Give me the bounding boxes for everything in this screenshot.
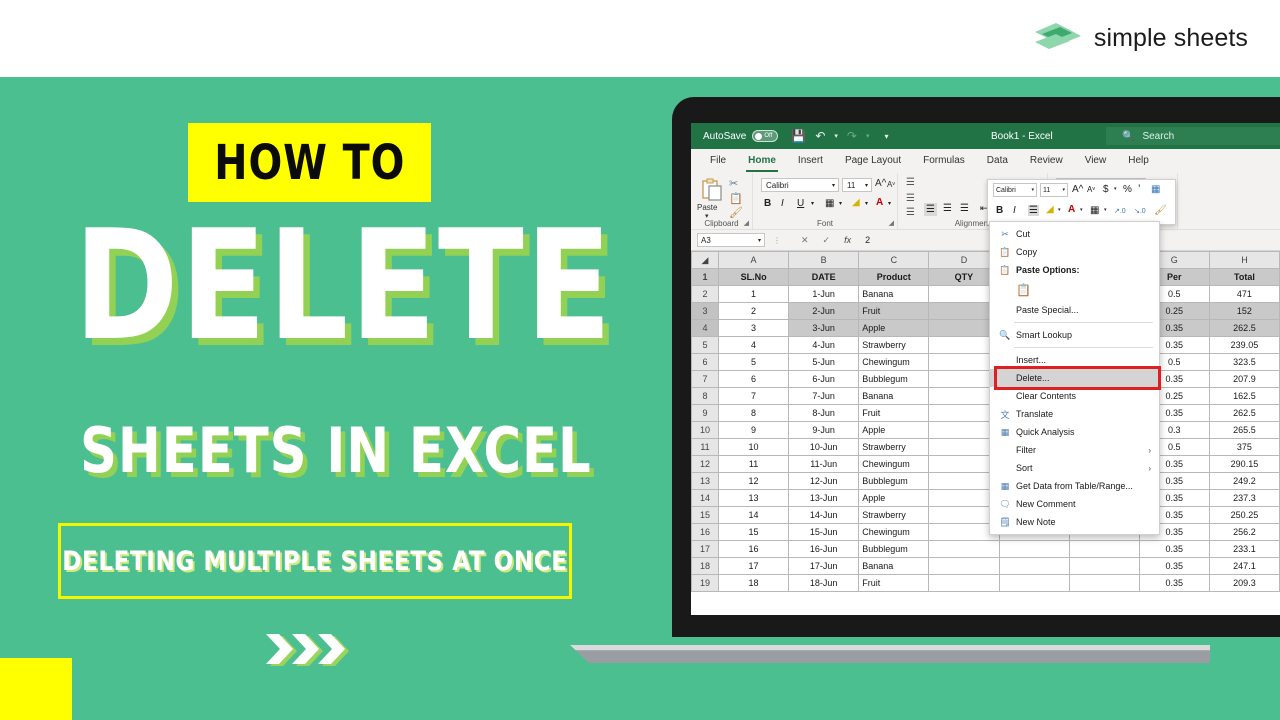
- tab-page-layout[interactable]: Page Layout: [834, 149, 912, 173]
- cell-total[interactable]: 250.25: [1209, 507, 1279, 524]
- cell-product[interactable]: Apple: [859, 490, 929, 507]
- font-color-dropdown-icon[interactable]: ▾: [1080, 207, 1083, 213]
- formula-bar-value[interactable]: 2: [865, 235, 870, 245]
- font-name-input[interactable]: Calibri ▾: [761, 178, 839, 192]
- align-center-icon[interactable]: ☰: [943, 203, 952, 214]
- search-box[interactable]: 🔍 Search: [1106, 127, 1280, 145]
- cell-product[interactable]: Banana: [859, 388, 929, 405]
- row-header[interactable]: 2: [692, 286, 719, 303]
- cell-total[interactable]: 247.1: [1209, 558, 1279, 575]
- copy-icon[interactable]: 📋: [729, 192, 743, 205]
- tab-data[interactable]: Data: [976, 149, 1019, 173]
- increase-decimal-icon[interactable]: ↗.0: [1114, 207, 1126, 215]
- tab-formulas[interactable]: Formulas: [912, 149, 976, 173]
- cell-slno[interactable]: 9: [719, 422, 789, 439]
- tab-review[interactable]: Review: [1019, 149, 1074, 173]
- redo-icon: ↷: [847, 129, 857, 143]
- cancel-icon[interactable]: ✕: [801, 235, 809, 246]
- cell-per[interactable]: 0.35: [1139, 541, 1209, 558]
- menu-item-new-note[interactable]: 🗒New Note: [990, 513, 1159, 531]
- cell-date[interactable]: 15-Jun: [789, 524, 859, 541]
- table-row: 1 SL.No DATE Product QTY Per Total: [692, 269, 1280, 286]
- align-left-icon[interactable]: ☰: [924, 203, 937, 216]
- cell-slno[interactable]: 18: [719, 575, 789, 592]
- cell-total[interactable]: 375: [1209, 439, 1279, 456]
- cell-product[interactable]: Fruit: [859, 575, 929, 592]
- menu-item-label: New Note: [1016, 517, 1056, 527]
- fill-dropdown-icon[interactable]: ▾: [865, 200, 868, 207]
- paste-label[interactable]: Paste: [697, 203, 717, 212]
- sheet-body: 211-JunBanana0.5471322-JunFruit0.2515243…: [692, 286, 1280, 592]
- italic-button[interactable]: I: [1013, 205, 1016, 216]
- menu-item-label: Sort: [1016, 463, 1033, 473]
- italic-button[interactable]: I: [781, 198, 784, 209]
- table-row[interactable]: 161515-JunChewingum0.35256.2: [692, 524, 1280, 541]
- name-box[interactable]: A3 ▾: [697, 233, 765, 247]
- chevron-down-icon[interactable]: ▾: [1062, 187, 1065, 193]
- menu-item-label: Quick Analysis: [1016, 427, 1075, 437]
- menu-item-clear-contents[interactable]: Clear Contents: [990, 387, 1159, 405]
- cell-total[interactable]: 249.2: [1209, 473, 1279, 490]
- row-header[interactable]: 6: [692, 354, 719, 371]
- menu-item-smart-lookup[interactable]: 🔍Smart Lookup: [990, 326, 1159, 344]
- cell-date[interactable]: 9-Jun: [789, 422, 859, 439]
- cell-qty[interactable]: [929, 558, 999, 575]
- paste-option-button[interactable]: 📋: [990, 279, 1159, 301]
- row-header[interactable]: 8: [692, 388, 719, 405]
- cell-per[interactable]: 0.35: [1139, 575, 1209, 592]
- menu-item-quick-analysis[interactable]: ▦Quick Analysis: [990, 423, 1159, 441]
- cell-slno[interactable]: 12: [719, 473, 789, 490]
- mini-format-toolbar[interactable]: Calibri ▾ 11 ▾ A^ Aᵛ $ ▾ % ’ ▦ B I ☰ ◢: [987, 179, 1176, 225]
- cell-product[interactable]: Fruit: [859, 405, 929, 422]
- row-header[interactable]: 10: [692, 422, 719, 439]
- table-row[interactable]: 766-JunBubblegum0.35207.9: [692, 371, 1280, 388]
- decrease-font-size-icon[interactable]: Aᵛ: [887, 180, 895, 189]
- cell-slno[interactable]: 3: [719, 320, 789, 337]
- cell-date[interactable]: 12-Jun: [789, 473, 859, 490]
- borders-dropdown-icon[interactable]: ▾: [839, 200, 842, 207]
- currency-dropdown-icon[interactable]: ▾: [1114, 186, 1117, 192]
- cell-date[interactable]: 18-Jun: [789, 575, 859, 592]
- cell-total[interactable]: 323.5: [1209, 354, 1279, 371]
- sheet-table: ◢ A B C D E F G H 1 SL.No DATE Product Q…: [691, 251, 1280, 592]
- tab-view[interactable]: View: [1074, 149, 1118, 173]
- cell-total[interactable]: 290.15: [1209, 456, 1279, 473]
- chevron-down-icon[interactable]: ▾: [758, 237, 761, 244]
- table-row[interactable]: 877-JunBanana0.25162.5: [692, 388, 1280, 405]
- menu-item-delete[interactable]: Delete...: [990, 369, 1159, 387]
- menu-item-label: Paste Options:: [1016, 265, 1080, 275]
- mini-font-size[interactable]: 11 ▾: [1040, 183, 1068, 197]
- cell-total[interactable]: 256.2: [1209, 524, 1279, 541]
- row-header[interactable]: 3: [692, 303, 719, 320]
- table-row[interactable]: 171616-JunBubblegum0.35233.1: [692, 541, 1280, 558]
- cell-total[interactable]: 162.5: [1209, 388, 1279, 405]
- row-header[interactable]: 19: [692, 575, 719, 592]
- cell-qty[interactable]: [929, 575, 999, 592]
- brand-name: simple sheets: [1094, 24, 1248, 53]
- mini-font-name-value: Calibri: [996, 187, 1016, 194]
- borders-icon[interactable]: ▦: [1090, 205, 1099, 216]
- cell-product[interactable]: Banana: [859, 286, 929, 303]
- cell-total[interactable]: 262.5: [1209, 320, 1279, 337]
- cell-a1[interactable]: SL.No: [719, 269, 789, 286]
- fill-dropdown-icon[interactable]: ▾: [1058, 207, 1061, 213]
- tab-home[interactable]: Home: [737, 149, 787, 173]
- cell-product[interactable]: Bubblegum: [859, 473, 929, 490]
- yellow-corner-accent: [0, 658, 72, 720]
- row-header[interactable]: 1: [692, 269, 719, 286]
- cell-slno[interactable]: 10: [719, 439, 789, 456]
- table-row[interactable]: 111010-JunStrawberry0.5375: [692, 439, 1280, 456]
- tab-insert[interactable]: Insert: [787, 149, 834, 173]
- redo-dropdown-icon: ▾: [866, 132, 870, 140]
- table-row[interactable]: 655-JunChewingum0.5323.5: [692, 354, 1280, 371]
- cell-e[interactable]: [999, 541, 1069, 558]
- menu-item-filter[interactable]: Filter›: [990, 441, 1159, 459]
- cell-date[interactable]: 8-Jun: [789, 405, 859, 422]
- cell-date[interactable]: 6-Jun: [789, 371, 859, 388]
- formula-bar-divider: ⋮: [773, 236, 781, 245]
- cell-slno[interactable]: 17: [719, 558, 789, 575]
- dialog-launcher-icon[interactable]: ◢: [744, 219, 749, 227]
- font-color-dropdown-icon[interactable]: ▾: [888, 200, 891, 207]
- cell-product[interactable]: Bubblegum: [859, 371, 929, 388]
- cell-total[interactable]: 262.5: [1209, 405, 1279, 422]
- cell-product[interactable]: Fruit: [859, 303, 929, 320]
- menu-item-label: Copy: [1016, 247, 1037, 257]
- stacked-sheets-logo-icon: [1035, 18, 1081, 58]
- chevron-down-icon[interactable]: ▾: [865, 182, 868, 189]
- row-header[interactable]: 17: [692, 541, 719, 558]
- cell-product[interactable]: Apple: [859, 320, 929, 337]
- cell-date[interactable]: 10-Jun: [789, 439, 859, 456]
- cell-slno[interactable]: 4: [719, 337, 789, 354]
- cell-slno[interactable]: 5: [719, 354, 789, 371]
- search-lookup-icon: 🔍: [996, 330, 1014, 341]
- column-header-h[interactable]: H: [1209, 252, 1279, 269]
- table-row[interactable]: 322-JunFruit0.25152: [692, 303, 1280, 320]
- laptop-bezel: AutoSave Off 💾 ↶ ▾ ↷ ▾ ▾ Book1 - Excel 🔍…: [672, 97, 1280, 637]
- cell-slno[interactable]: 13: [719, 490, 789, 507]
- cell-b1[interactable]: DATE: [789, 269, 859, 286]
- table-row[interactable]: 433-JunApple0.35262.5: [692, 320, 1280, 337]
- format-as-table-icon[interactable]: ▦: [1151, 184, 1160, 195]
- paste-clipboard-icon: 📋: [1016, 283, 1031, 297]
- autosave-toggle[interactable]: AutoSave Off: [703, 130, 778, 142]
- cell-slno[interactable]: 6: [719, 371, 789, 388]
- note-icon: 🗒: [996, 517, 1014, 528]
- row-header[interactable]: 16: [692, 524, 719, 541]
- underline-dropdown-icon[interactable]: ▾: [811, 200, 814, 207]
- menu-item-paste-special[interactable]: Paste Special...: [990, 301, 1159, 319]
- cell-product[interactable]: Apple: [859, 422, 929, 439]
- cell-date[interactable]: 13-Jun: [789, 490, 859, 507]
- insert-function-icon[interactable]: fx: [844, 235, 851, 245]
- save-icon[interactable]: 💾: [791, 129, 806, 143]
- page-title: DELETE: [74, 214, 562, 358]
- copy-icon: 📋: [996, 247, 1014, 258]
- paste-icon: 📋: [996, 265, 1014, 276]
- menu-separator: [1014, 347, 1153, 348]
- chevron-right-icon: ›: [1148, 464, 1151, 473]
- cell-product[interactable]: Strawberry: [859, 439, 929, 456]
- cell-slno[interactable]: 14: [719, 507, 789, 524]
- currency-icon[interactable]: $: [1103, 184, 1109, 195]
- cell-date[interactable]: 17-Jun: [789, 558, 859, 575]
- increase-font-size-icon[interactable]: A^: [1072, 184, 1083, 195]
- cell-total[interactable]: 207.9: [1209, 371, 1279, 388]
- quick-analysis-icon: ▦: [996, 427, 1014, 438]
- cell-date[interactable]: 14-Jun: [789, 507, 859, 524]
- menu-separator: [1014, 322, 1153, 323]
- menu-item-translate[interactable]: 文Translate: [990, 405, 1159, 423]
- font-size-input[interactable]: 11 ▾: [842, 178, 872, 192]
- table-row[interactable]: 1099-JunApple0.3265.5: [692, 422, 1280, 439]
- dialog-launcher-icon[interactable]: ◢: [889, 219, 894, 227]
- row-header[interactable]: 13: [692, 473, 719, 490]
- align-right-icon[interactable]: ☰: [960, 203, 969, 214]
- align-bottom-icon[interactable]: ☰: [906, 207, 915, 218]
- menu-item-copy[interactable]: 📋Copy: [990, 243, 1159, 261]
- document-title: Book1 - Excel: [991, 131, 1053, 142]
- cell-f[interactable]: [1069, 541, 1139, 558]
- increase-font-size-icon[interactable]: A^: [875, 178, 886, 189]
- table-row[interactable]: 141313-JunApple0.35237.3: [692, 490, 1280, 507]
- font-name-value: Calibri: [766, 181, 789, 190]
- font-color-icon[interactable]: A: [1068, 204, 1075, 215]
- scissors-icon: ✂: [996, 229, 1014, 240]
- menu-item-label: Translate: [1016, 409, 1053, 419]
- cell-slno[interactable]: 7: [719, 388, 789, 405]
- menu-item-label: Cut: [1016, 229, 1030, 239]
- cell-total[interactable]: 233.1: [1209, 541, 1279, 558]
- cell-product[interactable]: Chewingum: [859, 354, 929, 371]
- table-row[interactable]: 121111-JunChewingum0.35290.15: [692, 456, 1280, 473]
- laptop-base: [570, 645, 1210, 663]
- bold-button[interactable]: B: [764, 198, 771, 209]
- search-placeholder: Search: [1142, 131, 1174, 142]
- chevron-down-icon[interactable]: ▾: [832, 182, 835, 189]
- cell-slno[interactable]: 8: [719, 405, 789, 422]
- percent-icon[interactable]: %: [1123, 184, 1132, 195]
- decrease-decimal-icon[interactable]: ↘.0: [1134, 207, 1146, 215]
- mini-font-name[interactable]: Calibri ▾: [993, 183, 1037, 197]
- cell-f[interactable]: [1069, 575, 1139, 592]
- cell-date[interactable]: 11-Jun: [789, 456, 859, 473]
- page-subtitle-headline: SHEETS IN EXCEL: [80, 420, 595, 482]
- row-header[interactable]: 7: [692, 371, 719, 388]
- row-header[interactable]: 5: [692, 337, 719, 354]
- menu-item-label: Get Data from Table/Range...: [1016, 481, 1133, 491]
- cell-date[interactable]: 1-Jun: [789, 286, 859, 303]
- translate-icon: 文: [996, 408, 1014, 421]
- cell-date[interactable]: 16-Jun: [789, 541, 859, 558]
- undo-dropdown-icon[interactable]: ▾: [834, 132, 838, 140]
- align-center-icon[interactable]: ☰: [1028, 205, 1039, 216]
- table-row[interactable]: 191818-JunFruit0.35209.3: [692, 575, 1280, 592]
- column-header-row: ◢ A B C D E F G H: [692, 252, 1280, 269]
- cell-total[interactable]: 265.5: [1209, 422, 1279, 439]
- cell-total[interactable]: 237.3: [1209, 490, 1279, 507]
- row-header[interactable]: 18: [692, 558, 719, 575]
- tab-help[interactable]: Help: [1117, 149, 1160, 173]
- cell-date[interactable]: 2-Jun: [789, 303, 859, 320]
- menu-item-paste-options[interactable]: 📋Paste Options:: [990, 261, 1159, 279]
- quick-access-toolbar[interactable]: 💾 ↶ ▾ ↷ ▾ ▾: [791, 129, 888, 143]
- cell-slno[interactable]: 1: [719, 286, 789, 303]
- align-top-icon[interactable]: ☰: [906, 177, 915, 188]
- mini-toolbar-row-1: Calibri ▾ 11 ▾ A^ Aᵛ $ ▾ % ’ ▦: [988, 180, 1175, 202]
- undo-icon[interactable]: ↶: [815, 129, 825, 143]
- how-to-label: HOW TO: [214, 135, 405, 191]
- cell-product[interactable]: Banana: [859, 558, 929, 575]
- chevron-right-icon: ›: [1148, 446, 1151, 455]
- menu-item-cut[interactable]: ✂Cut: [990, 225, 1159, 243]
- menu-item-label: New Comment: [1016, 499, 1076, 509]
- cell-total[interactable]: 471: [1209, 286, 1279, 303]
- column-header-a[interactable]: A: [719, 252, 789, 269]
- font-group: Calibri ▾ 11 ▾ A^ Aᵛ B I U ▾ ▦ ▾ ◢ ▾ A ▾: [753, 173, 898, 229]
- autosave-switch[interactable]: Off: [752, 130, 778, 142]
- cell-date[interactable]: 4-Jun: [789, 337, 859, 354]
- format-painter-icon[interactable]: 🖌: [1154, 205, 1167, 216]
- font-group-label: Font: [753, 219, 897, 228]
- autosave-label: AutoSave: [703, 131, 746, 142]
- menu-item-new-comment[interactable]: 🗨New Comment: [990, 495, 1159, 513]
- table-row[interactable]: 131212-JunBubblegum0.35249.2: [692, 473, 1280, 490]
- chevron-down-icon[interactable]: ▾: [1031, 187, 1034, 193]
- cell-total[interactable]: 152: [1209, 303, 1279, 320]
- row-header[interactable]: 14: [692, 490, 719, 507]
- table-row[interactable]: 151414-JunStrawberry0.35250.25: [692, 507, 1280, 524]
- cell-total[interactable]: 209.3: [1209, 575, 1279, 592]
- table-row[interactable]: 988-JunFruit0.35262.5: [692, 405, 1280, 422]
- brand-logo: simple sheets: [1035, 18, 1248, 58]
- select-all-corner[interactable]: ◢: [692, 252, 719, 269]
- table-row[interactable]: 544-JunStrawberry0.35239.05: [692, 337, 1280, 354]
- name-box-value: A3: [701, 236, 711, 245]
- borders-dropdown-icon[interactable]: ▾: [1104, 207, 1107, 213]
- row-header[interactable]: 15: [692, 507, 719, 524]
- menu-item-label: Clear Contents: [1016, 391, 1076, 401]
- cell-context-menu[interactable]: ✂Cut📋Copy📋Paste Options:📋Paste Special..…: [989, 221, 1160, 535]
- cell-c1[interactable]: Product: [859, 269, 929, 286]
- triple-chevron-right-icon: [262, 630, 358, 672]
- autosave-knob: [755, 133, 762, 140]
- formula-bar: A3 ▾ ⋮ ✕ ✓ fx 2: [691, 230, 1280, 251]
- fill-color-icon[interactable]: ◢: [852, 197, 860, 208]
- cell-per[interactable]: 0.35: [1139, 558, 1209, 575]
- menu-item-label: Insert...: [1016, 355, 1046, 365]
- cell-slno[interactable]: 2: [719, 303, 789, 320]
- cell-total[interactable]: 239.05: [1209, 337, 1279, 354]
- autosave-state: Off: [764, 133, 772, 139]
- cell-product[interactable]: Strawberry: [859, 337, 929, 354]
- cell-slno[interactable]: 16: [719, 541, 789, 558]
- cell-product[interactable]: Bubblegum: [859, 541, 929, 558]
- customize-qat-icon[interactable]: ▾: [884, 132, 888, 141]
- comma-style-icon[interactable]: ’: [1138, 183, 1140, 195]
- borders-icon[interactable]: ▦: [825, 198, 834, 209]
- menu-item-label: Paste Special...: [1016, 305, 1079, 315]
- menu-item-sort[interactable]: Sort›: [990, 459, 1159, 477]
- cell-e[interactable]: [999, 575, 1069, 592]
- subtitle-box: DELETING MULTIPLE SHEETS AT ONCE: [58, 523, 572, 599]
- clipboard-group: Paste ▾ ✂ 📋 🖌 Clipboard ◢: [691, 173, 753, 229]
- column-header-c[interactable]: C: [859, 252, 929, 269]
- cell-product[interactable]: Chewingum: [859, 524, 929, 541]
- subtitle-label: DELETING MULTIPLE SHEETS AT ONCE: [62, 546, 567, 577]
- format-painter-icon[interactable]: 🖌: [729, 206, 743, 219]
- laptop-screen: AutoSave Off 💾 ↶ ▾ ↷ ▾ ▾ Book1 - Excel 🔍…: [691, 123, 1280, 615]
- spreadsheet-grid[interactable]: ◢ A B C D E F G H 1 SL.No DATE Product Q…: [691, 251, 1280, 592]
- decrease-font-size-icon[interactable]: Aᵛ: [1087, 185, 1095, 194]
- table-row[interactable]: 211-JunBanana0.5471: [692, 286, 1280, 303]
- paste-icon[interactable]: [701, 178, 723, 202]
- column-header-b[interactable]: B: [789, 252, 859, 269]
- menu-item-label: Filter: [1016, 445, 1036, 455]
- font-color-icon[interactable]: A: [876, 197, 883, 208]
- bold-button[interactable]: B: [996, 205, 1003, 216]
- cell-date[interactable]: 5-Jun: [789, 354, 859, 371]
- how-to-badge: HOW TO: [188, 123, 431, 202]
- table-row[interactable]: 181717-JunBanana0.35247.1: [692, 558, 1280, 575]
- cell-product[interactable]: Chewingum: [859, 456, 929, 473]
- row-header[interactable]: 11: [692, 439, 719, 456]
- row-header[interactable]: 12: [692, 456, 719, 473]
- cell-slno[interactable]: 15: [719, 524, 789, 541]
- confirm-icon[interactable]: ✓: [823, 235, 831, 246]
- excel-title-bar: AutoSave Off 💾 ↶ ▾ ↷ ▾ ▾ Book1 - Excel 🔍…: [691, 123, 1280, 149]
- cell-slno[interactable]: 11: [719, 456, 789, 473]
- menu-item-get-data-from-table-range[interactable]: ▦Get Data from Table/Range...: [990, 477, 1159, 495]
- ribbon-tabs[interactable]: File Home Insert Page Layout Formulas Da…: [691, 149, 1280, 173]
- row-header[interactable]: 9: [692, 405, 719, 422]
- cell-e[interactable]: [999, 558, 1069, 575]
- cell-date[interactable]: 3-Jun: [789, 320, 859, 337]
- table-icon: ▦: [996, 481, 1014, 492]
- font-size-value: 11: [847, 181, 855, 190]
- cell-date[interactable]: 7-Jun: [789, 388, 859, 405]
- ribbon-body: Paste ▾ ✂ 📋 🖌 Clipboard ◢ Calibri ▾ 11 ▾…: [691, 173, 1280, 230]
- menu-item-label: Smart Lookup: [1016, 330, 1072, 340]
- underline-button[interactable]: U: [797, 198, 804, 209]
- cell-h1[interactable]: Total: [1209, 269, 1279, 286]
- tab-file[interactable]: File: [699, 149, 737, 173]
- cell-product[interactable]: Strawberry: [859, 507, 929, 524]
- align-middle-icon[interactable]: ☰: [906, 193, 915, 204]
- cell-qty[interactable]: [929, 541, 999, 558]
- cell-f[interactable]: [1069, 558, 1139, 575]
- mini-font-size-value: 11: [1043, 187, 1050, 194]
- comment-icon: 🗨: [996, 499, 1014, 510]
- row-header[interactable]: 4: [692, 320, 719, 337]
- fill-color-icon[interactable]: ◢: [1046, 204, 1054, 215]
- scissors-icon[interactable]: ✂: [729, 177, 738, 190]
- search-icon: 🔍: [1122, 131, 1134, 142]
